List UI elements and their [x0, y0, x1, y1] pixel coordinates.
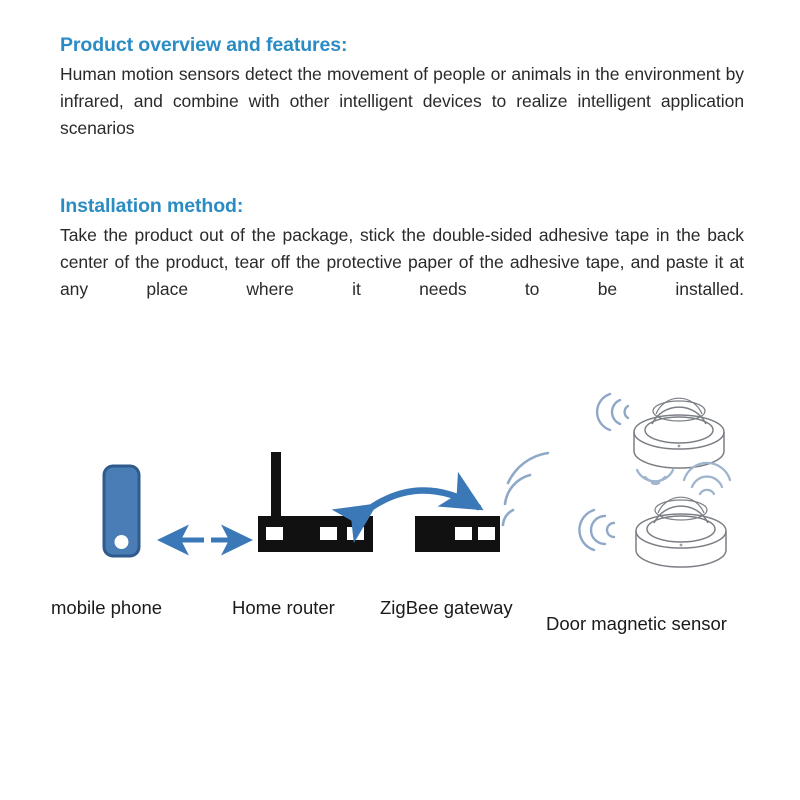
smartphone-icon: [104, 466, 139, 556]
label-door-magnetic-sensor: Door magnetic sensor: [546, 613, 727, 635]
gateway-icon: [415, 516, 500, 552]
label-mobile-phone: mobile phone: [51, 597, 162, 619]
product-overview-body: Human motion sensors detect the movement…: [60, 61, 744, 169]
gateway-wireless-waves-icon: [503, 453, 548, 525]
installation-method-heading: Installation method:: [60, 193, 744, 219]
link-router-gateway: [372, 491, 478, 508]
motion-sensor-icon-top: [634, 398, 724, 468]
text-content: Product overview and features: Human mot…: [60, 32, 744, 330]
bottom-sensor-waves-left-icon: [579, 510, 614, 550]
top-sensor-waves-left-icon: [597, 394, 628, 430]
page-root: Product overview and features: Human mot…: [0, 0, 800, 800]
section-spacer: [60, 169, 744, 193]
label-home-router: Home router: [232, 597, 335, 619]
motion-sensor-icon-bottom: [636, 497, 726, 567]
installation-method-body: Take the product out of the package, sti…: [60, 222, 744, 330]
product-overview-heading: Product overview and features:: [60, 32, 744, 58]
label-zigbee-gateway: ZigBee gateway: [380, 597, 513, 619]
router-icon: [258, 452, 373, 552]
top-sensor-waves-down-icon: [637, 470, 673, 484]
